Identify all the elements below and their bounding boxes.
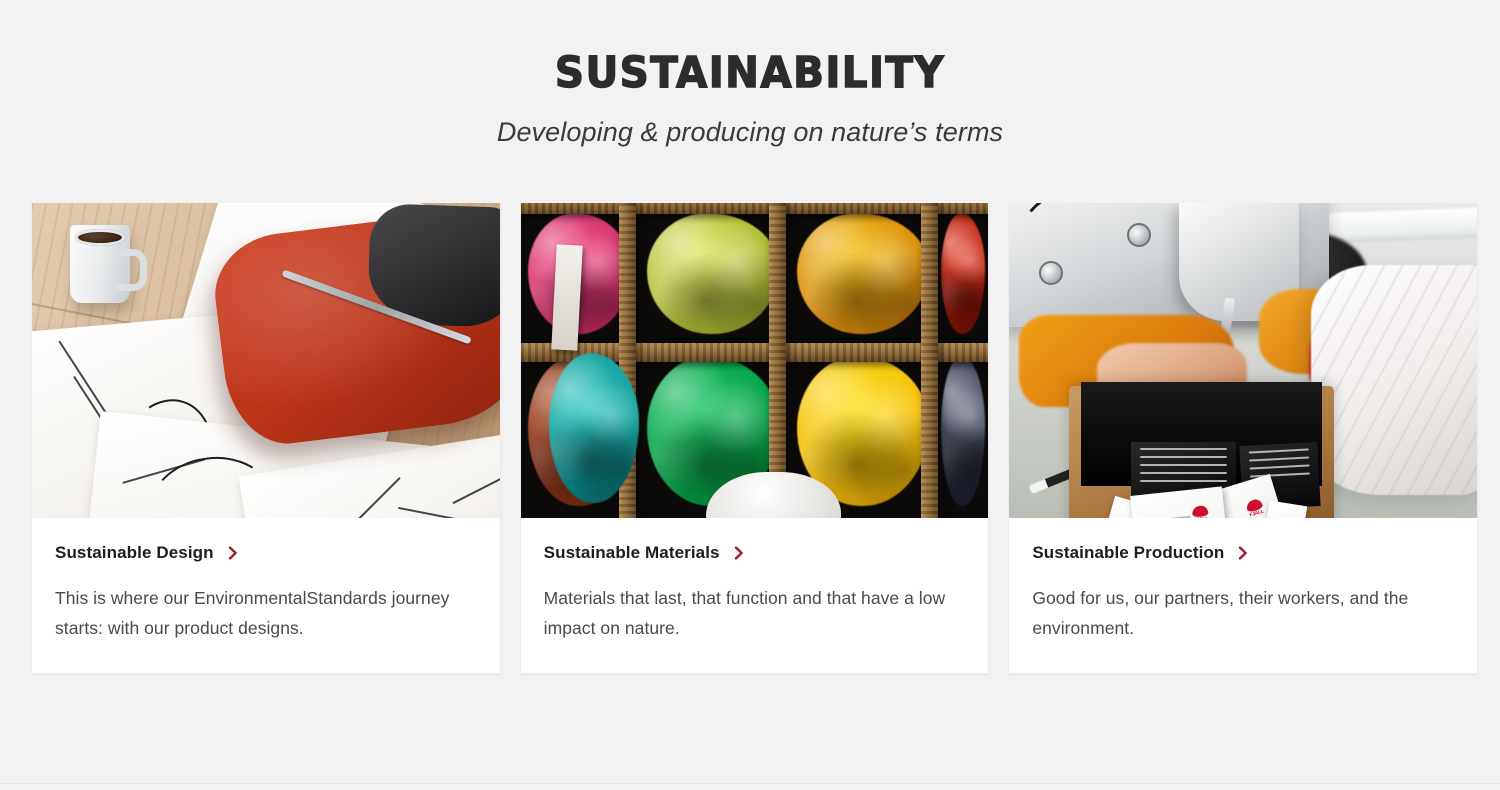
mug-handle [116,249,147,291]
sustainability-card-grid: Sustainable Design This is where our Env… [31,203,1478,674]
card-description: This is where our EnvironmentalStandards… [55,583,477,643]
wood-shelf-divider [921,203,938,518]
shelf-label-tag [551,244,582,350]
card-description: Good for us, our partners, their workers… [1032,583,1454,643]
wool-gold [797,213,929,334]
page-title: SUSTAINABILITY [45,52,1455,95]
wool-cell [638,203,788,344]
brand-text-line1: FJALL [1250,510,1265,518]
card-description: Materials that last, that function and t… [544,583,966,643]
card-title: Sustainable Design [55,544,214,561]
coffee-mug [70,225,130,303]
wool-cell [788,203,938,344]
card-sustainable-production[interactable]: FJALL RAVEN FJALL RAVEN [1008,203,1478,674]
chevron-right-icon[interactable] [1236,546,1250,560]
page-subtitle: Developing & producing on nature’s terms [0,119,1500,146]
card-title: Sustainable Materials [544,544,720,561]
chevron-right-icon[interactable] [732,546,746,560]
page-bottom-divider [0,783,1500,784]
wool-red [941,213,985,334]
wool-chartreuse [647,213,779,334]
card-body: Sustainable Design This is where our Env… [32,518,500,673]
sustainability-page: SUSTAINABILITY Developing & producing on… [0,0,1500,790]
card-body: Sustainable Materials Materials that las… [521,518,989,673]
wool-cell [938,203,988,344]
card-heading[interactable]: Sustainable Design [55,544,477,561]
card-image-sustainable-production: FJALL RAVEN FJALL RAVEN [1009,203,1477,518]
wood-shelf-divider [521,203,989,214]
wool-navy [941,356,985,506]
chevron-right-icon[interactable] [226,546,240,560]
card-title: Sustainable Production [1032,544,1224,561]
card-image-sustainable-design [32,203,500,518]
card-image-sustainable-materials [521,203,989,518]
red-backpack [208,206,500,451]
fjallraven-logo: FJALL RAVEN [1182,501,1221,518]
card-sustainable-materials[interactable]: Sustainable Materials Materials that las… [520,203,990,674]
card-body: Sustainable Production Good for us, our … [1009,518,1477,673]
wool-cell [938,344,988,518]
card-heading[interactable]: Sustainable Production [1032,544,1454,561]
wood-shelf-divider [769,203,786,518]
card-sustainable-design[interactable]: Sustainable Design This is where our Env… [31,203,501,674]
white-fabric-bundle [1311,265,1477,495]
card-heading[interactable]: Sustainable Materials [544,544,966,561]
brand-text-line1: FJALL [1194,517,1209,518]
page-header: SUSTAINABILITY Developing & producing on… [0,0,1500,146]
